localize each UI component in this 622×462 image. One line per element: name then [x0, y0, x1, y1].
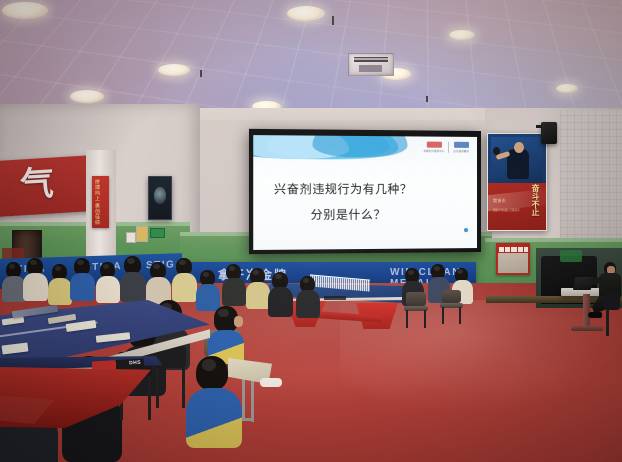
poster-subtitle: 国家乒乓球队 世界冠军 [493, 209, 523, 212]
athlete-photo [491, 137, 543, 183]
logo-anti-doping-center: 中国反兴奋剂中心 [423, 142, 444, 153]
green-bag [560, 250, 582, 262]
poster-red-band: 樊振东 国家乒乓球队 世界冠军 奋斗不止 [488, 183, 546, 230]
ceiling-light-icon [287, 6, 325, 21]
ceiling-light-icon [556, 84, 578, 93]
ceiling-hook [426, 96, 428, 102]
wall-outlet-plate [126, 232, 136, 243]
slide-bullet-dot [464, 228, 468, 232]
ceiling-hook [332, 16, 334, 25]
wall-notice-plate [136, 226, 148, 242]
logo-education: 反兴奋剂教育 [453, 142, 469, 153]
speaker-icon [541, 122, 557, 144]
projection-screen: 中国反兴奋剂中心 反兴奋剂教育 兴奋剂违规行为有几种？ 分别是什么？ [249, 129, 481, 254]
slide-question-1: 兴奋剂违规行为有几种？ [274, 181, 412, 198]
ceiling-ac-vent [348, 53, 394, 76]
wall-motto-char: 气 [20, 162, 54, 206]
athlete-poster: 樊振东 国家乒乓球队 世界冠军 奋斗不止 [487, 133, 547, 231]
wall-poster-dark [148, 176, 172, 220]
table-brand-tag [324, 296, 346, 300]
ceiling-hook [200, 70, 202, 77]
poster-headline: 奋斗不止 [530, 184, 540, 216]
ceiling-light-icon [2, 2, 48, 19]
poster-athlete-name: 樊振东 [493, 198, 506, 204]
table-tennis-table-foreground: DHS [0, 300, 210, 430]
presenter-table-leg [583, 294, 590, 328]
wall-motto-banner: 气 [0, 155, 94, 217]
ceiling-light-icon [449, 30, 475, 40]
paddle-icon [493, 147, 500, 155]
table-brand-logo: DHS [92, 358, 144, 370]
column-banner-text: 拼搏向上 勇创佳绩 [93, 179, 100, 225]
ceiling-light-icon [158, 64, 190, 76]
table-brand-text: DHS [129, 360, 141, 367]
projection-screen-surface: 中国反兴奋剂中心 反兴奋剂教育 兴奋剂违规行为有几种？ 分别是什么？ [253, 135, 477, 250]
ceiling-light-icon [70, 90, 104, 103]
gymnasium-lecture-photo: 气 拼搏向上 勇创佳绩 中国反兴奋剂中心 反兴奋剂教育 [0, 0, 622, 462]
exit-sign [150, 228, 165, 238]
slide-logos: 中国反兴奋剂中心 反兴奋剂教育 [423, 142, 469, 153]
fire-equipment-cabinet[interactable] [496, 243, 530, 275]
column-vertical-banner: 拼搏向上 勇创佳绩 [92, 176, 109, 228]
slide-question-2: 分别是什么？ [311, 206, 386, 223]
presenter-table-base [571, 326, 603, 331]
